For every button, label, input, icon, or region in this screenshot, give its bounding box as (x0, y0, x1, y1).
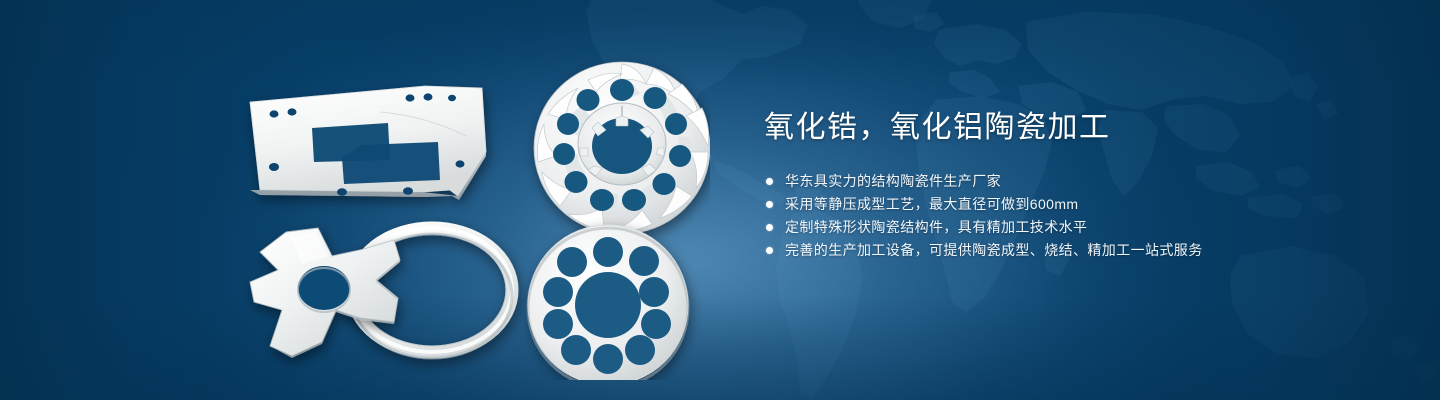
ceramic-perforated-disc (528, 225, 688, 380)
bullet-dot-icon (766, 178, 773, 185)
product-photo-collage (230, 40, 710, 380)
hero-banner: 氧化锆，氧化铝陶瓷加工 华东具实力的结构陶瓷件生产厂家 采用等静压成型工艺，最大… (0, 0, 1440, 400)
ceramic-plate (250, 86, 486, 200)
feature-text: 完善的生产加工设备，可提供陶瓷成型、烧结、精加工一站式服务 (785, 239, 1203, 262)
feature-item: 采用等静压成型工艺，最大直径可做到600mm (766, 193, 1384, 216)
bullet-dot-icon (766, 247, 773, 254)
feature-text: 采用等静压成型工艺，最大直径可做到600mm (785, 193, 1078, 216)
banner-headline: 氧化锆，氧化铝陶瓷加工 (764, 108, 1384, 148)
ceramic-impeller (534, 62, 710, 234)
feature-item: 华东具实力的结构陶瓷件生产厂家 (766, 170, 1384, 193)
feature-item: 完善的生产加工设备，可提供陶瓷成型、烧结、精加工一站式服务 (766, 239, 1384, 262)
bullet-dot-icon (766, 201, 773, 208)
banner-text-block: 氧化锆，氧化铝陶瓷加工 华东具实力的结构陶瓷件生产厂家 采用等静压成型工艺，最大… (764, 108, 1384, 262)
feature-text: 定制特殊形状陶瓷结构件，具有精加工技术水平 (785, 216, 1087, 239)
feature-item: 定制特殊形状陶瓷结构件，具有精加工技术水平 (766, 216, 1384, 239)
banner-feature-list: 华东具实力的结构陶瓷件生产厂家 采用等静压成型工艺，最大直径可做到600mm 定… (764, 170, 1384, 262)
feature-text: 华东具实力的结构陶瓷件生产厂家 (785, 170, 1001, 193)
ceramic-parts-illustration (230, 40, 710, 380)
bullet-dot-icon (766, 224, 773, 231)
